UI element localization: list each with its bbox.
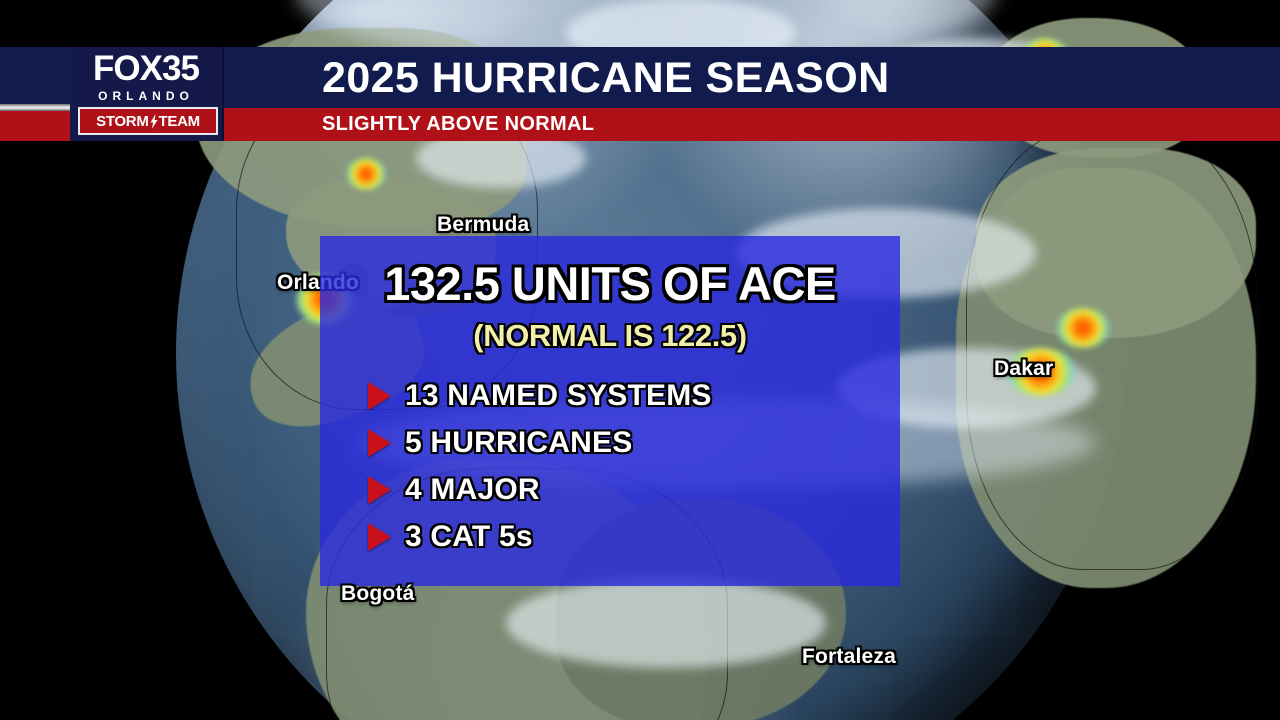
station-logo: FOX35 ORLANDO STORM TEAM: [70, 47, 224, 141]
banner-accent-rule: [0, 104, 73, 111]
cloud-patch-6: [506, 578, 826, 668]
logo-storm-text: STORM: [96, 114, 148, 129]
triangle-bullet-icon: [368, 429, 391, 457]
forecast-panel: 132.5 UNITS OF ACE (NORMAL IS 122.5) 13 …: [320, 236, 900, 586]
forecast-bullet-major: 4 MAJOR: [368, 466, 900, 513]
ace-headline: 132.5 UNITS OF ACE: [320, 258, 900, 310]
forecast-bullet-label: 3 CAT 5s: [405, 520, 533, 554]
logo-market-text: ORLANDO: [70, 89, 222, 103]
broadcast-graphic: Bermuda Orlando Dakar 132.5 UNITS OF ACE…: [0, 0, 1280, 720]
triangle-bullet-icon: [368, 382, 391, 410]
forecast-bullet-list: 13 NAMED SYSTEMS 5 HURRICANES 4 MAJOR 3 …: [368, 372, 900, 560]
forecast-bullet-named-systems: 13 NAMED SYSTEMS: [368, 372, 900, 419]
banner-subtitle: SLIGHTLY ABOVE NORMAL: [322, 110, 594, 138]
city-label-bogota: Bogotá: [341, 582, 415, 606]
storm-cell-carolinas: [346, 158, 386, 190]
city-label-dakar: Dakar: [994, 357, 1053, 381]
coastline-outline-east: [966, 128, 1258, 570]
logo-team-text: TEAM: [159, 114, 200, 129]
city-label-bermuda: Bermuda: [437, 213, 529, 237]
ace-normal-note: (NORMAL IS 122.5): [320, 318, 900, 354]
triangle-bullet-icon: [368, 523, 391, 551]
forecast-bullet-cat5: 3 CAT 5s: [368, 513, 900, 560]
lightning-bolt-icon: [150, 114, 158, 129]
page-title: 2025 HURRICANE SEASON: [322, 52, 1182, 104]
forecast-bullet-label: 13 NAMED SYSTEMS: [405, 379, 712, 413]
logo-stormteam-badge: STORM TEAM: [78, 107, 218, 135]
forecast-bullet-hurricanes: 5 HURRICANES: [368, 419, 900, 466]
logo-network-text: FOX: [93, 49, 162, 88]
forecast-bullet-label: 5 HURRICANES: [405, 426, 632, 460]
logo-network-line: FOX35: [70, 50, 222, 88]
triangle-bullet-icon: [368, 476, 391, 504]
logo-channel-text: 35: [162, 49, 199, 88]
storm-cell-sahel: [1056, 308, 1110, 348]
city-label-fortaleza: Fortaleza: [802, 645, 896, 669]
forecast-bullet-label: 4 MAJOR: [405, 473, 540, 507]
